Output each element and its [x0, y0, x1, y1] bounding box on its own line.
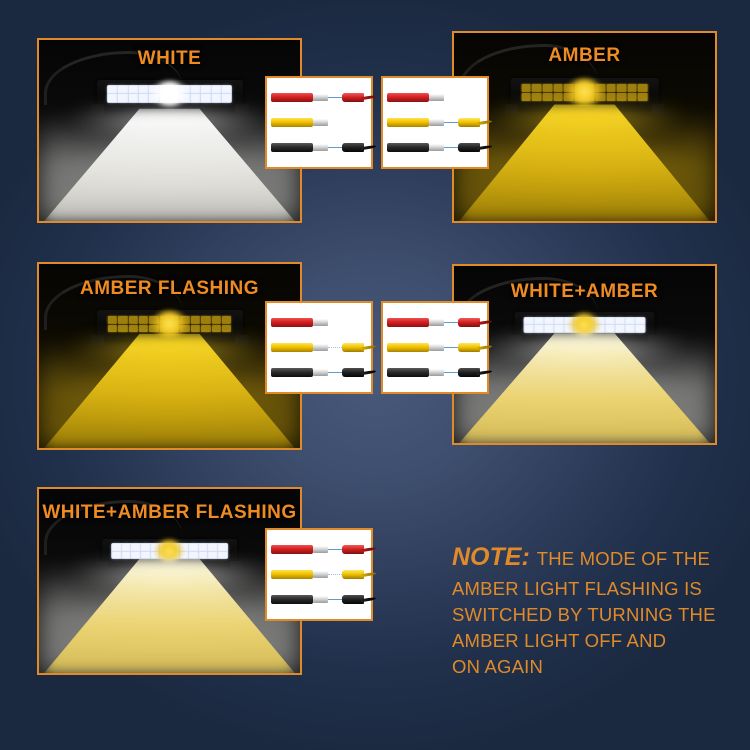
panel-caption-amber-flashing: AMBER FLASHING: [39, 278, 300, 300]
note-line-1: NOTE: THE MODE OF THE: [452, 540, 732, 576]
yellow-wire-plug: [271, 343, 328, 352]
black-wire-connector: [458, 142, 492, 153]
red-wire-lead: [328, 549, 342, 550]
red-wire-ferrule: [313, 94, 328, 101]
wire-row-black: [267, 140, 371, 156]
yellow-wire-insulation: [271, 343, 313, 352]
wire-row-red: [383, 315, 487, 331]
black-wire-insulation: [271, 368, 313, 377]
panel-amber-flashing: AMBER FLASHING: [37, 262, 302, 450]
yellow-wire-lead: [444, 122, 458, 123]
red-wire-plug: [271, 93, 328, 102]
yellow-wire-ferrule: [429, 119, 444, 126]
wire-row-black: [267, 592, 371, 608]
product-feature-board: WHITE: [0, 0, 750, 750]
yellow-wire-insulation: [387, 118, 429, 127]
panel-caption-white-amber: WHITE+AMBER: [454, 281, 715, 303]
yellow-wire-lead-dotted: [328, 347, 342, 348]
wire-row-yellow: [267, 340, 371, 356]
black-wire-lead: [444, 372, 458, 373]
lens: [111, 543, 228, 559]
yellow-wire-lead-dotted: [328, 574, 342, 575]
wiring-diagram-white: [265, 76, 373, 169]
red-wire-ferrule: [313, 546, 328, 553]
note-line-2: AMBER LIGHT FLASHING IS: [452, 576, 732, 602]
red-wire-connector: [342, 92, 376, 103]
black-wire-plug: [271, 368, 328, 377]
wire-row-red: [267, 90, 371, 106]
panel-white-amber-flashing: WHITE+AMBER FLASHING: [37, 487, 302, 675]
yellow-wire-ferrule: [429, 344, 444, 351]
red-wire-plug: [271, 545, 328, 554]
panel-white-amber: WHITE+AMBER: [452, 264, 717, 445]
black-wire-lead: [328, 599, 342, 600]
note-line-4: AMBER LIGHT OFF AND: [452, 628, 732, 654]
center-hotspot: [151, 80, 189, 107]
yellow-wire-ferrule: [313, 119, 328, 126]
black-wire-plug: [387, 368, 444, 377]
red-wire-ferrule: [429, 319, 444, 326]
yellow-wire-connector: [458, 117, 492, 128]
black-wire-plug: [271, 595, 328, 604]
red-wire-insulation: [271, 93, 313, 102]
panel-caption-white: WHITE: [39, 48, 300, 70]
black-wire-lead: [328, 147, 342, 148]
yellow-wire-insulation: [387, 343, 429, 352]
wire-row-black: [383, 140, 487, 156]
wire-row-yellow: [267, 567, 371, 583]
black-wire-insulation: [387, 368, 429, 377]
note-line-3: SWITCHED BY TURNING THE: [452, 602, 732, 628]
wire-row-yellow: [383, 340, 487, 356]
yellow-wire-connector: [342, 342, 376, 353]
center-hotspot: [565, 79, 603, 107]
black-wire-plug: [271, 143, 328, 152]
red-wire-connector: [342, 544, 376, 555]
black-wire-connector: [342, 594, 376, 605]
yellow-wire-ferrule: [313, 344, 328, 351]
red-wire-insulation: [387, 93, 429, 102]
black-wire-plug: [387, 143, 444, 152]
wiring-diagram-white-amber: [381, 301, 489, 394]
panel-white: WHITE: [37, 38, 302, 223]
yellow-wire-plug: [271, 118, 328, 127]
black-wire-ferrule: [429, 144, 444, 151]
black-wire-insulation: [387, 143, 429, 152]
red-wire-plug: [271, 318, 328, 327]
yellow-wire-insulation: [271, 118, 313, 127]
wire-row-red: [267, 542, 371, 558]
wiring-diagram-white-amber-flashing: [265, 528, 373, 621]
yellow-wire-plug: [271, 570, 328, 579]
red-wire-lead: [444, 322, 458, 323]
wiring-diagram-amber-flashing: [265, 301, 373, 394]
black-wire-ferrule: [429, 369, 444, 376]
wire-row-yellow: [383, 115, 487, 131]
note-label: NOTE:: [452, 543, 537, 571]
red-wire-ferrule: [429, 94, 444, 101]
red-wire-ferrule: [313, 319, 328, 326]
yellow-wire-insulation: [271, 570, 313, 579]
black-wire-ferrule: [313, 369, 328, 376]
lens: [107, 85, 233, 103]
center-hotspot: [151, 310, 189, 337]
black-wire-insulation: [271, 595, 313, 604]
panel-caption-white-amber-flashing: WHITE+AMBER FLASHING: [39, 502, 300, 524]
black-wire-connector: [342, 367, 376, 378]
red-wire-lead: [328, 97, 342, 98]
red-wire-insulation: [387, 318, 429, 327]
note-block: NOTE: THE MODE OF THE AMBER LIGHT FLASHI…: [452, 540, 732, 681]
wiring-diagram-amber: [381, 76, 489, 169]
wire-row-black: [267, 365, 371, 381]
wire-row-red: [267, 315, 371, 331]
black-wire-lead: [444, 147, 458, 148]
led-light-bar: [96, 80, 242, 111]
red-wire-connector: [458, 317, 492, 328]
black-wire-lead: [328, 372, 342, 373]
yellow-wire-connector: [342, 569, 376, 580]
yellow-wire-plug: [387, 118, 444, 127]
note-line-5: ON AGAIN: [452, 654, 732, 680]
black-wire-insulation: [271, 143, 313, 152]
wire-row-red: [383, 90, 487, 106]
note-line-1-text: THE MODE OF THE: [537, 548, 710, 569]
panel-caption-amber: AMBER: [454, 45, 715, 67]
black-wire-ferrule: [313, 596, 328, 603]
red-wire-insulation: [271, 545, 313, 554]
black-wire-connector: [342, 142, 376, 153]
red-wire-plug: [387, 93, 444, 102]
black-wire-ferrule: [313, 144, 328, 151]
red-wire-insulation: [271, 318, 313, 327]
black-wire-connector: [458, 367, 492, 378]
yellow-wire-lead: [444, 347, 458, 348]
wire-row-black: [383, 365, 487, 381]
yellow-wire-ferrule: [313, 571, 328, 578]
yellow-wire-plug: [387, 343, 444, 352]
wire-row-yellow: [267, 115, 371, 131]
lens: [524, 317, 645, 333]
lens: [521, 83, 649, 102]
lens: [107, 315, 233, 333]
yellow-wire-connector: [458, 342, 492, 353]
red-wire-plug: [387, 318, 444, 327]
